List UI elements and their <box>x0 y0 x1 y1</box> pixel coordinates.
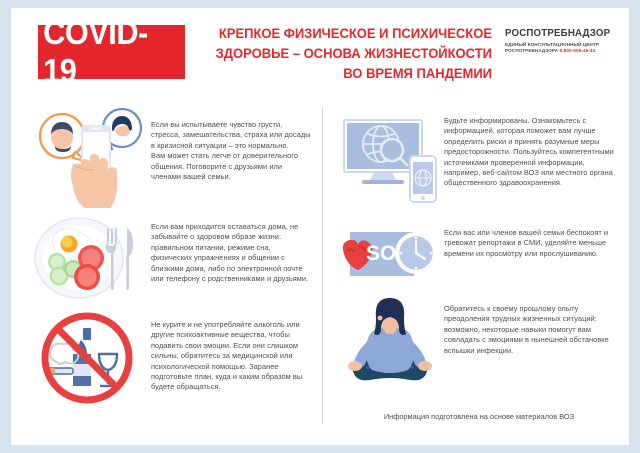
right-column: Будьте информированы. Ознакомьтесь с инф… <box>336 108 622 404</box>
tip-text-past-experience: Обратитесь к своему прошлому опыту преод… <box>444 296 616 356</box>
consultation-center-org: РОСПОТРЕБНАДЗОРА <box>505 48 558 53</box>
tip-text-be-informed: Будьте информированы. Ознакомьтесь с инф… <box>444 108 616 189</box>
tip-row-healthy-lifestyle: Если вам приходится оставаться дома, не … <box>29 214 319 310</box>
covid-19-badge-label: COVID-19 <box>43 14 180 90</box>
rospotrebnadzor-subtitle: ЕДИНЫЙ КОНСУЛЬТАЦИОННЫЙ ЦЕНТР РОСПОТРЕБН… <box>505 42 621 55</box>
source-note: Информация подготовлена на основе матери… <box>336 412 622 421</box>
no-smoking-no-alcohol-illustration <box>29 310 151 406</box>
tip-text-limit-media: Если вас или членов вашей семьи беспокоя… <box>444 220 616 259</box>
column-divider <box>322 108 323 424</box>
tip-row-no-substances: Не курите и не употребляйте алкоголь или… <box>29 310 319 410</box>
covid-19-badge: COVID-19 <box>38 25 185 79</box>
tip-text-communication: Если вы испытываете чувство грусти, стре… <box>151 108 311 182</box>
tip-row-past-experience: Обратитесь к своему прошлому опыту преод… <box>336 296 622 404</box>
monitor-globe-smartphone-illustration <box>336 108 444 208</box>
tip-row-limit-media: SOS Если вас или членов вашей семьи бесп… <box>336 220 622 296</box>
poster-headline: КРЕПКОЕ ФИЗИЧЕСКОЕ И ПСИХИЧЕСКОЕ ЗДОРОВЬ… <box>206 24 492 84</box>
tip-row-be-informed: Будьте информированы. Ознакомьтесь с инф… <box>336 108 622 220</box>
poster-header: COVID-19 КРЕПКОЕ ФИЗИЧЕСКОЕ И ПСИХИЧЕСКО… <box>11 8 629 92</box>
hand-phone-chat-illustration <box>29 108 151 208</box>
poster-card: COVID-19 КРЕПКОЕ ФИЗИЧЕСКОЕ И ПСИХИЧЕСКО… <box>11 8 629 445</box>
rospotrebnadzor-logo: РОСПОТРЕБНАДЗОР ЕДИНЫЙ КОНСУЛЬТАЦИОННЫЙ … <box>505 28 621 55</box>
tip-text-healthy-lifestyle: Если вам приходится оставаться дома, не … <box>151 214 311 284</box>
tip-row-communication: Если вы испытываете чувство грусти, стре… <box>29 108 319 214</box>
left-column: Если вы испытываете чувство грусти, стре… <box>29 108 319 410</box>
tip-text-no-substances: Не курите и не употребляйте алкоголь или… <box>151 310 311 393</box>
meditating-woman-illustration <box>336 296 444 396</box>
hotline-phone-number: 8-800-555-49-43 <box>560 48 596 53</box>
healthy-food-plate-illustration <box>29 214 151 304</box>
rospotrebnadzor-title: РОСПОТРЕБНАДЗОР <box>505 28 615 39</box>
sos-news-clock-illustration: SOS <box>336 220 444 290</box>
